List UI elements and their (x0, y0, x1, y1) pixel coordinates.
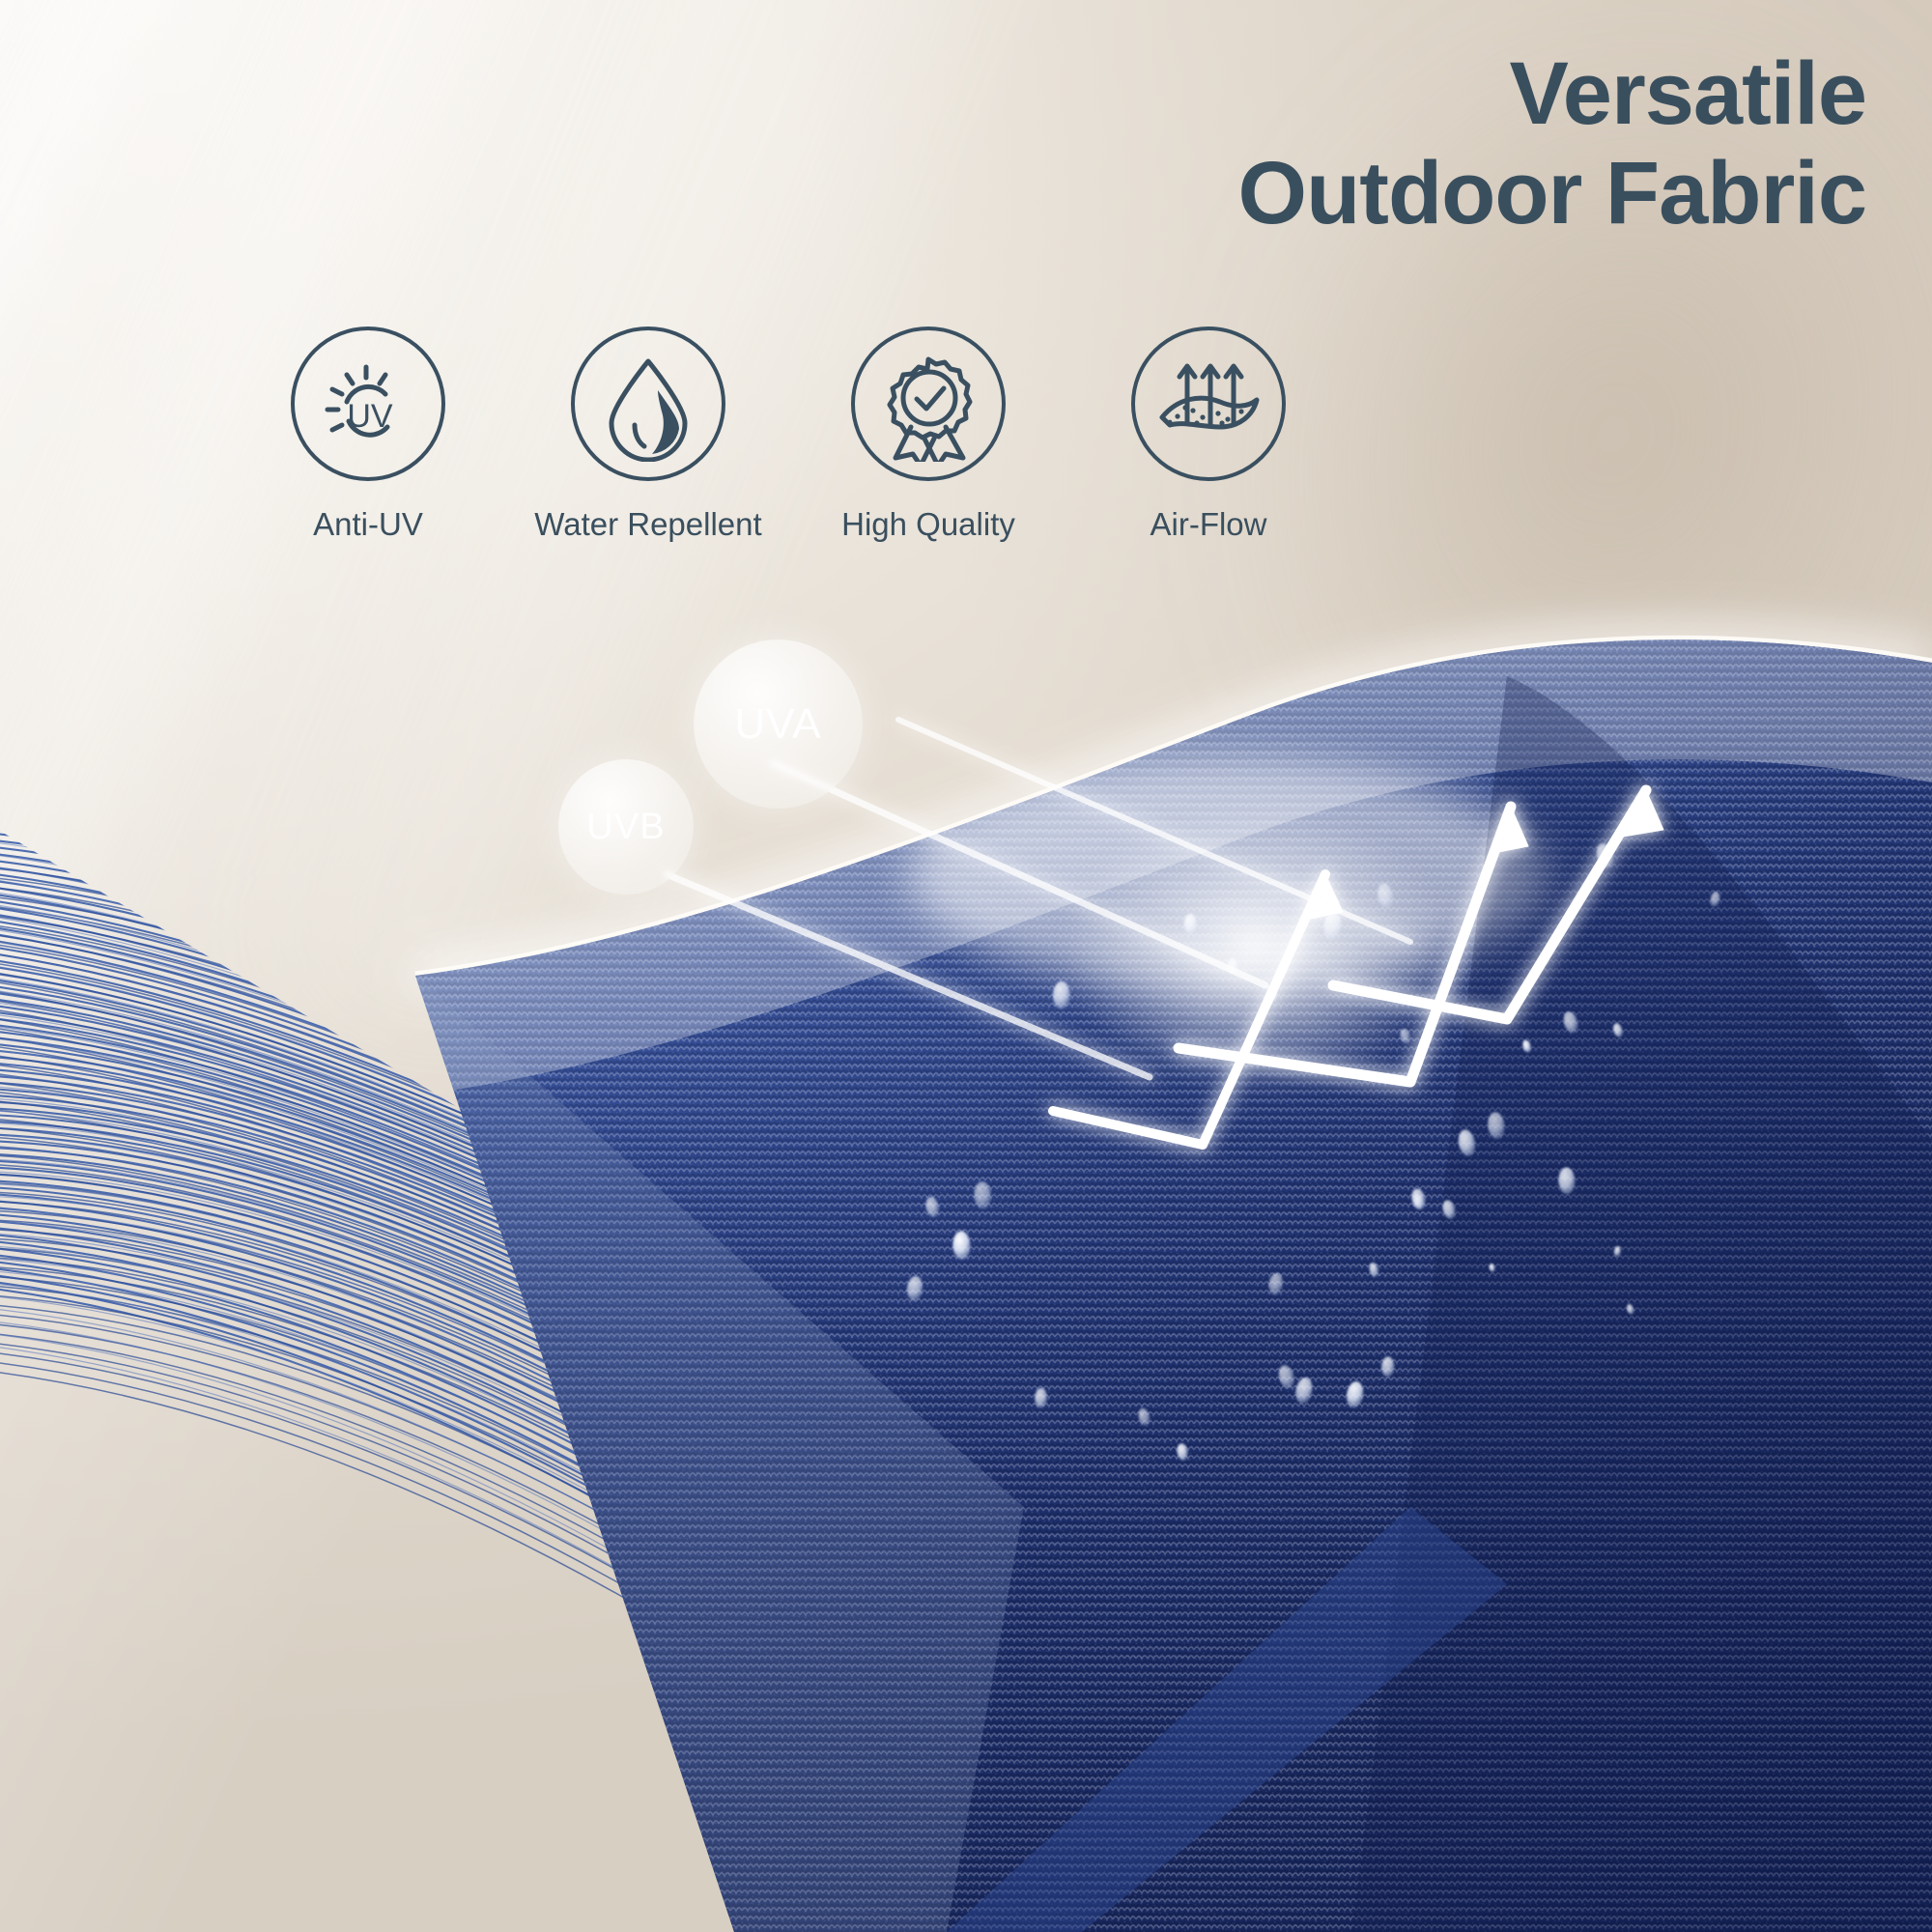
title-line-1: Versatile (1509, 44, 1866, 143)
uva-badge-label: UVA (734, 700, 821, 749)
feature-item-anti-uv[interactable]: UV Anti-UV (228, 327, 508, 543)
uva-badge: UVA (694, 639, 863, 809)
uvb-badge: UVB (558, 759, 694, 895)
page-title: Versatile Outdoor Fabric (1238, 44, 1866, 243)
uvb-badge-label: UVB (586, 807, 665, 848)
infographic-canvas: UVA UVB Versatile Outdoor Fabric (0, 0, 1932, 1932)
feature-label-air-flow: Air-Flow (1151, 506, 1267, 543)
feature-label-anti-uv: Anti-UV (313, 506, 423, 543)
sun-uv-icon: UV (291, 327, 445, 481)
feature-item-air-flow[interactable]: Air-Flow (1068, 327, 1349, 543)
title-line-2: Outdoor Fabric (1238, 144, 1866, 243)
award-badge-icon (851, 327, 1006, 481)
feature-item-high-quality[interactable]: High Quality (788, 327, 1068, 543)
feature-label-water-repellent: Water Repellent (534, 506, 761, 543)
fabric-scene (0, 0, 1932, 1932)
air-flow-icon (1131, 327, 1286, 481)
feature-item-water-repellent[interactable]: Water Repellent (508, 327, 788, 543)
water-drop-icon (571, 327, 725, 481)
feature-label-high-quality: High Quality (841, 506, 1015, 543)
sun-uv-icon-text: UV (347, 398, 393, 435)
feature-list: UV Anti-UV Water Repellent (228, 327, 1349, 543)
